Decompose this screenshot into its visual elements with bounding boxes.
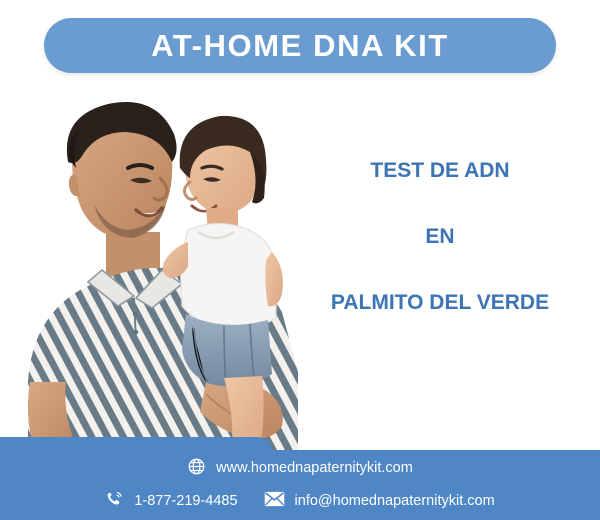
footer-contact-block: www.homednapaternitykit.com 1-877-219-44…	[0, 450, 600, 520]
envelope-icon	[264, 491, 285, 512]
website-contact[interactable]: www.homednapaternitykit.com	[187, 457, 413, 481]
phone-contact[interactable]: 1-877-219-4485	[105, 490, 237, 514]
email-address: info@homednapaternitykit.com	[295, 494, 495, 509]
poster-canvas: AT-HOME DNA KIT	[0, 0, 600, 520]
headline-line-1: TEST DE ADN	[300, 160, 580, 181]
headline-line-3: PALMITO DEL VERDE	[300, 292, 580, 313]
footer-row-website: www.homednapaternitykit.com	[187, 457, 413, 481]
phone-number: 1-877-219-4485	[134, 494, 237, 509]
email-contact[interactable]: info@homednapaternitykit.com	[264, 491, 495, 512]
globe-icon	[187, 457, 206, 481]
title-banner-pill: AT-HOME DNA KIT	[44, 18, 556, 73]
headline-block: TEST DE ADN EN PALMITO DEL VERDE	[300, 160, 580, 313]
footer-row-phone-email: 1-877-219-4485 info@homednapaternitykit.…	[105, 490, 494, 514]
website-url: www.homednapaternitykit.com	[216, 461, 413, 476]
poster-title: AT-HOME DNA KIT	[151, 30, 449, 61]
family-photo	[10, 82, 310, 457]
headline-line-2: EN	[300, 226, 580, 247]
phone-ringing-icon	[105, 490, 124, 514]
